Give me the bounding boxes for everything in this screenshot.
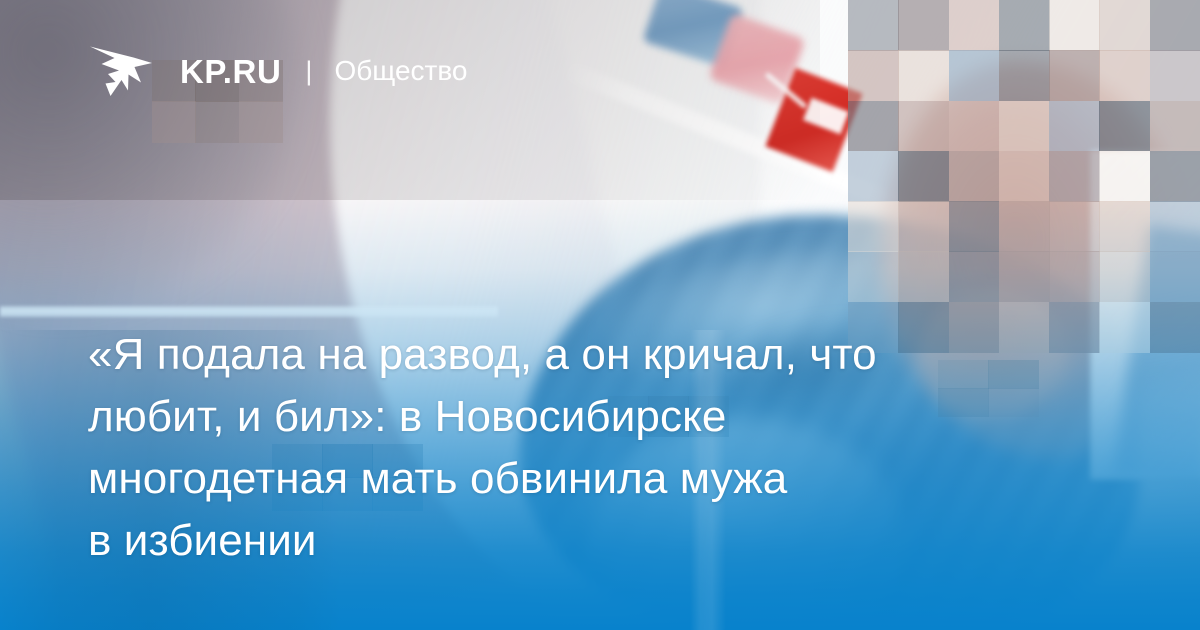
rubric-label[interactable]: Общество bbox=[334, 57, 467, 85]
headline-text: «Я подала на развод, а он кричал, что лю… bbox=[88, 324, 1068, 572]
card-header: KP.RU | Общество bbox=[88, 38, 468, 104]
kp-ru-share-card: KP.RU | Общество «Я подала на развод, а … bbox=[0, 0, 1200, 630]
header-divider: | bbox=[305, 58, 312, 85]
brand-name[interactable]: KP.RU bbox=[180, 55, 281, 88]
swallow-bird-logo-icon[interactable] bbox=[88, 40, 154, 102]
